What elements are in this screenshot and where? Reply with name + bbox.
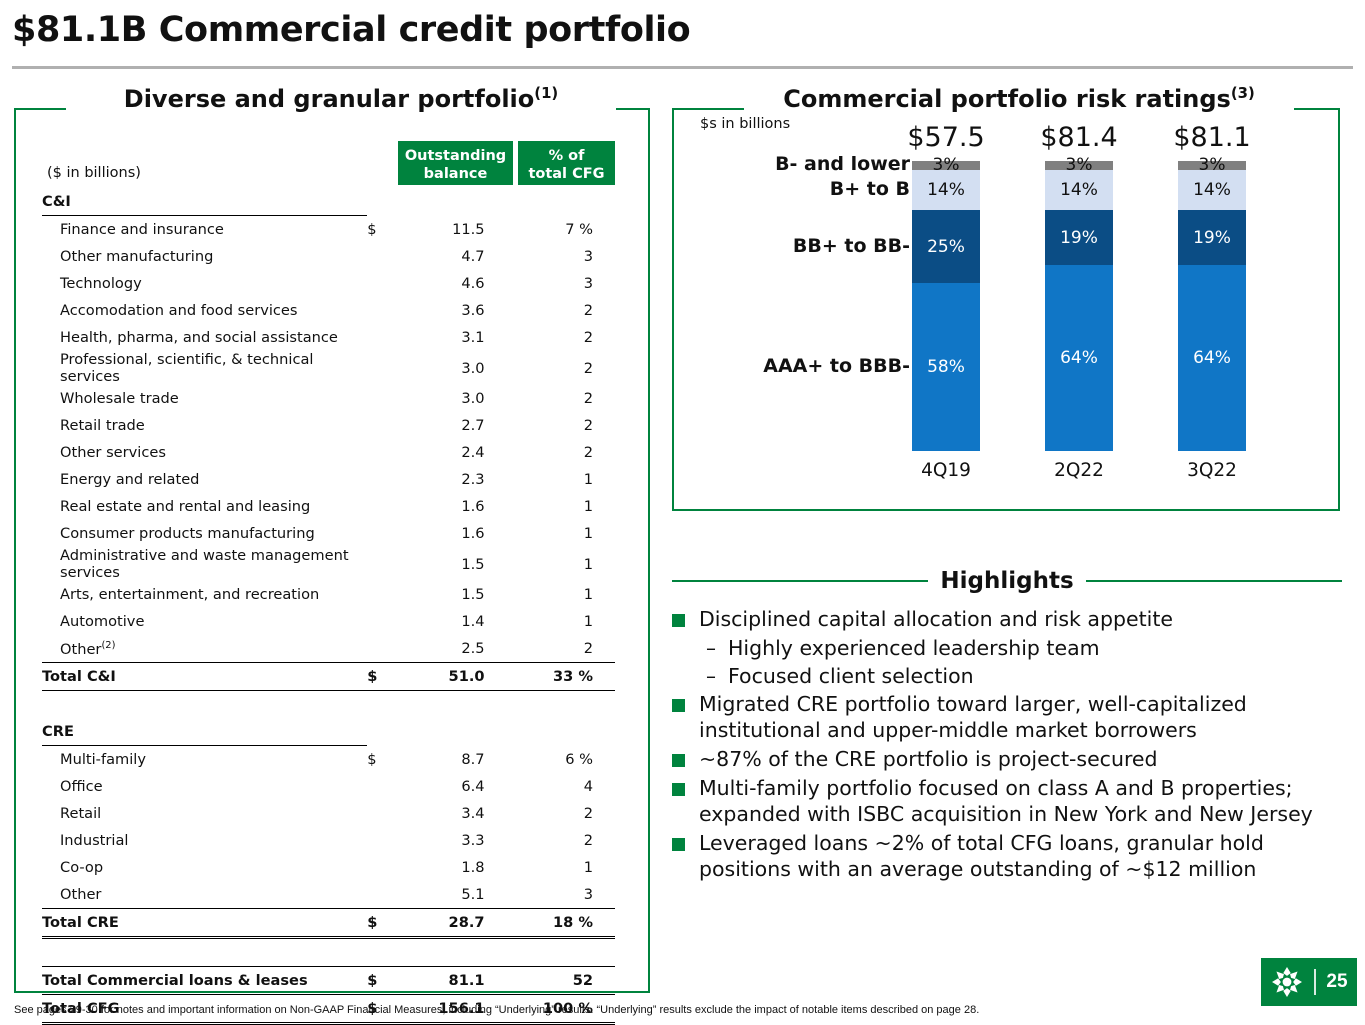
row-currency [367, 800, 391, 827]
row-label: Retail trade [42, 412, 367, 439]
total-currency: $ [367, 663, 391, 691]
row-value: 2.3 [391, 466, 508, 493]
row-label: Co-op [42, 854, 367, 881]
table-row: Administrative and waste management serv… [42, 547, 615, 581]
table-row: Other(2) 2.5 2 [42, 635, 615, 663]
row-pct: 2 [509, 297, 615, 324]
chart-x-tick: 4Q19 [921, 460, 971, 481]
total-currency: $ [367, 967, 391, 995]
row-currency [367, 466, 391, 493]
total-value: 81.1 [391, 967, 508, 995]
row-pct: 2 [509, 324, 615, 351]
highlight-text: Migrated CRE portfolio toward larger, we… [699, 691, 1342, 743]
row-label: Energy and related [42, 466, 367, 493]
chart-bar-segment: 14% [1045, 170, 1113, 211]
row-value: 2.4 [391, 439, 508, 466]
table-row: Retail 3.4 2 [42, 800, 615, 827]
highlight-item: Multi-family portfolio focused on class … [672, 775, 1342, 827]
row-currency [367, 324, 391, 351]
row-label: Technology [42, 270, 367, 297]
chart-x-tick: 2Q22 [1054, 460, 1104, 481]
table-total-row-commercial: Total Commercial loans & leases $ 81.1 5… [42, 967, 615, 995]
total-label: Total CRE [42, 909, 367, 938]
dash-icon: – [706, 635, 728, 661]
footnote-marker-1: (1) [534, 84, 558, 102]
row-value: 3.3 [391, 827, 508, 854]
highlight-item: ~87% of the CRE portfolio is project-sec… [672, 746, 1342, 772]
highlights-rule-left [672, 580, 928, 582]
row-pct: 1 [509, 581, 615, 608]
row-label: Other(2) [42, 635, 367, 663]
chart-bar-column[interactable]: 3%14%19%64%3Q22 [1178, 161, 1246, 451]
table-row: Multi-family $ 8.7 6 % [42, 746, 615, 774]
row-currency [367, 385, 391, 412]
highlights-rule-right [1086, 580, 1342, 582]
row-label-text: Other [60, 640, 101, 657]
bullet-square-icon [672, 838, 685, 851]
row-label: Health, pharma, and social assistance [42, 324, 367, 351]
row-value: 3.4 [391, 800, 508, 827]
highlight-text: Leveraged loans ~2% of total CFG loans, … [699, 830, 1342, 882]
total-currency: $ [367, 909, 391, 938]
row-currency [367, 827, 391, 854]
diverse-portfolio-heading-text: Diverse and granular portfolio [124, 85, 534, 113]
highlight-item: Leveraged loans ~2% of total CFG loans, … [672, 830, 1342, 882]
row-pct: 2 [509, 385, 615, 412]
chart-bar-segment: 14% [1178, 170, 1246, 211]
highlight-subitem: –Focused client selection [706, 663, 1342, 689]
table-row: Office 6.4 4 [42, 773, 615, 800]
highlights-section: Highlights Disciplined capital allocatio… [672, 566, 1342, 885]
table-section-header-cre: CRE [42, 718, 615, 746]
row-value: 8.7 [391, 746, 508, 774]
highlight-subitem: –Highly experienced leadership team [706, 635, 1342, 661]
total-label: Total C&I [42, 663, 367, 691]
row-label: Other [42, 881, 367, 909]
table-row: Arts, entertainment, and recreation 1.5 … [42, 581, 615, 608]
row-pct: 2 [509, 439, 615, 466]
table-row: Automotive 1.4 1 [42, 608, 615, 635]
row-pct: 2 [509, 412, 615, 439]
section-label-cre: CRE [42, 718, 367, 746]
highlight-text: ~87% of the CRE portfolio is project-sec… [699, 746, 1342, 772]
row-pct: 3 [509, 270, 615, 297]
row-value: 1.5 [391, 581, 508, 608]
row-label: Finance and insurance [42, 216, 367, 244]
row-pct: 2 [509, 827, 615, 854]
bullet-square-icon [672, 754, 685, 767]
row-value: 4.6 [391, 270, 508, 297]
table-row: Consumer products manufacturing 1.6 1 [42, 520, 615, 547]
row-pct: 3 [509, 881, 615, 909]
chart-bar-column[interactable]: 3%14%19%64%2Q22 [1045, 161, 1113, 451]
row-pct: 1 [509, 520, 615, 547]
page-number: 25 [1326, 971, 1347, 993]
highlights-list: Disciplined capital allocation and risk … [672, 606, 1342, 882]
row-currency [367, 881, 391, 909]
table-row: Health, pharma, and social assistance 3.… [42, 324, 615, 351]
page-title: $81.1B Commercial credit portfolio [12, 10, 690, 50]
row-label: Office [42, 773, 367, 800]
row-pct: 1 [509, 493, 615, 520]
table-units-label: ($ in billions) [47, 165, 141, 181]
chart-bar-segment: 64% [1045, 265, 1113, 451]
total-value: 28.7 [391, 909, 508, 938]
row-label: Accomodation and food services [42, 297, 367, 324]
row-label: Real estate and rental and leasing [42, 493, 367, 520]
page-badge: 25 [1261, 958, 1357, 1006]
row-pct: 6 % [509, 746, 615, 774]
row-currency [367, 608, 391, 635]
total-pct: 18 % [509, 909, 615, 938]
row-label: Industrial [42, 827, 367, 854]
row-currency [367, 412, 391, 439]
highlights-titlebar: Highlights [672, 566, 1342, 596]
chart-bar-group: $57.53%14%25%58%4Q19 [912, 115, 980, 451]
footnote-text: See pages 29-30 for notes and important … [14, 1004, 979, 1016]
row-pct: 1 [509, 854, 615, 881]
table-row: Technology 4.6 3 [42, 270, 615, 297]
table-row: Energy and related 2.3 1 [42, 466, 615, 493]
row-currency [367, 351, 391, 385]
row-currency: $ [367, 746, 391, 774]
row-currency [367, 773, 391, 800]
chart-bar-group: $81.43%14%19%64%2Q22 [1045, 115, 1113, 451]
dash-icon: – [706, 663, 728, 689]
risk-ratings-chart: B- and lower B+ to B BB+ to BB- AAA+ to … [672, 108, 1340, 511]
row-value: 3.1 [391, 324, 508, 351]
row-currency [367, 854, 391, 881]
row-value: 3.6 [391, 297, 508, 324]
row-label: Administrative and waste management serv… [42, 547, 367, 581]
chart-bar-segment: 25% [912, 210, 980, 283]
highlight-text: Disciplined capital allocation and risk … [699, 606, 1342, 632]
chart-bar-segment: 19% [1045, 210, 1113, 265]
chart-x-tick: 3Q22 [1187, 460, 1237, 481]
row-currency [367, 581, 391, 608]
citizens-logo-icon [1270, 965, 1304, 999]
table-row: Industrial 3.3 2 [42, 827, 615, 854]
portfolio-table: C&I Finance and insurance $ 11.5 7 % Oth… [42, 188, 615, 1025]
row-label: Automotive [42, 608, 367, 635]
table-row: Co-op 1.8 1 [42, 854, 615, 881]
row-currency [367, 297, 391, 324]
table-spacer [42, 938, 615, 967]
row-pct: 4 [509, 773, 615, 800]
chart-bar-segment: 3% [1178, 161, 1246, 170]
total-pct: 33 % [509, 663, 615, 691]
table-total-row-ci: Total C&I $ 51.0 33 % [42, 663, 615, 691]
chart-bar-segment: 3% [912, 161, 980, 170]
row-pct: 1 [509, 608, 615, 635]
chart-bar-column[interactable]: 3%14%25%58%4Q19 [912, 161, 980, 451]
chart-bar-segment: 58% [912, 283, 980, 451]
total-label: Total Commercial loans & leases [42, 967, 367, 995]
row-value: 1.6 [391, 520, 508, 547]
bullet-square-icon [672, 783, 685, 796]
chart-bar-total: $57.5 [907, 122, 984, 153]
row-value: 1.5 [391, 547, 508, 581]
highlight-item: Migrated CRE portfolio toward larger, we… [672, 691, 1342, 743]
chart-bar-segment: 3% [1045, 161, 1113, 170]
row-pct: 2 [509, 635, 615, 663]
row-currency [367, 439, 391, 466]
row-currency [367, 520, 391, 547]
row-value: 3.0 [391, 385, 508, 412]
row-label: Professional, scientific, & technical se… [42, 351, 367, 385]
row-label: Arts, entertainment, and recreation [42, 581, 367, 608]
row-pct: 1 [509, 547, 615, 581]
highlight-subtext: Highly experienced leadership team [728, 635, 1100, 661]
table-row: Other services 2.4 2 [42, 439, 615, 466]
chart-label-b-minus-and-lower: B- and lower [478, 153, 910, 175]
row-value: 1.4 [391, 608, 508, 635]
badge-separator [1314, 969, 1316, 995]
chart-bar-total: $81.1 [1173, 122, 1250, 153]
highlight-item: Disciplined capital allocation and risk … [672, 606, 1342, 632]
row-currency [367, 243, 391, 270]
row-currency [367, 270, 391, 297]
row-label: Other manufacturing [42, 243, 367, 270]
row-currency: $ [367, 216, 391, 244]
row-pct: 2 [509, 800, 615, 827]
chart-bar-group: $81.13%14%19%64%3Q22 [1178, 115, 1246, 451]
row-value: 1.8 [391, 854, 508, 881]
highlight-text: Multi-family portfolio focused on class … [699, 775, 1342, 827]
diverse-portfolio-heading: Diverse and granular portfolio(1) [66, 86, 616, 111]
row-currency [367, 493, 391, 520]
title-divider [12, 66, 1353, 69]
row-label: Retail [42, 800, 367, 827]
table-row: Accomodation and food services 3.6 2 [42, 297, 615, 324]
row-label: Multi-family [42, 746, 367, 774]
chart-bar-total: $81.4 [1040, 122, 1117, 153]
total-pct: 52 [509, 967, 615, 995]
row-value: 5.1 [391, 881, 508, 909]
chart-bar-segment: 14% [912, 170, 980, 211]
table-spacer [42, 691, 615, 719]
row-label: Consumer products manufacturing [42, 520, 367, 547]
total-value: 51.0 [391, 663, 508, 691]
footnote-marker-2: (2) [101, 640, 115, 651]
row-label: Other services [42, 439, 367, 466]
bullet-square-icon [672, 614, 685, 627]
highlight-subtext: Focused client selection [728, 663, 974, 689]
bullet-square-icon [672, 699, 685, 712]
chart-label-b-plus-to-b: B+ to B [478, 178, 910, 200]
table-row: Real estate and rental and leasing 1.6 1 [42, 493, 615, 520]
chart-bar-segment: 19% [1178, 210, 1246, 265]
row-value: 2.7 [391, 412, 508, 439]
row-value: 6.4 [391, 773, 508, 800]
table-row: Retail trade 2.7 2 [42, 412, 615, 439]
highlights-title: Highlights [940, 568, 1073, 594]
row-currency [367, 635, 391, 663]
chart-label-bb-plus-to-bb-minus: BB+ to BB- [478, 235, 910, 257]
chart-bar-segment: 64% [1178, 265, 1246, 451]
row-value: 2.5 [391, 635, 508, 663]
row-value: 1.6 [391, 493, 508, 520]
portfolio-table-body: C&I Finance and insurance $ 11.5 7 % Oth… [42, 188, 615, 1024]
section-label-ci: C&I [42, 188, 367, 216]
row-pct: 1 [509, 466, 615, 493]
row-currency [367, 547, 391, 581]
row-label: Wholesale trade [42, 385, 367, 412]
table-row: Other 5.1 3 [42, 881, 615, 909]
table-total-row-cre: Total CRE $ 28.7 18 % [42, 909, 615, 938]
table-row: Wholesale trade 3.0 2 [42, 385, 615, 412]
chart-label-aaa-plus-to-bbb-minus: AAA+ to BBB- [478, 355, 910, 377]
footnote-marker-3: (3) [1231, 84, 1255, 102]
